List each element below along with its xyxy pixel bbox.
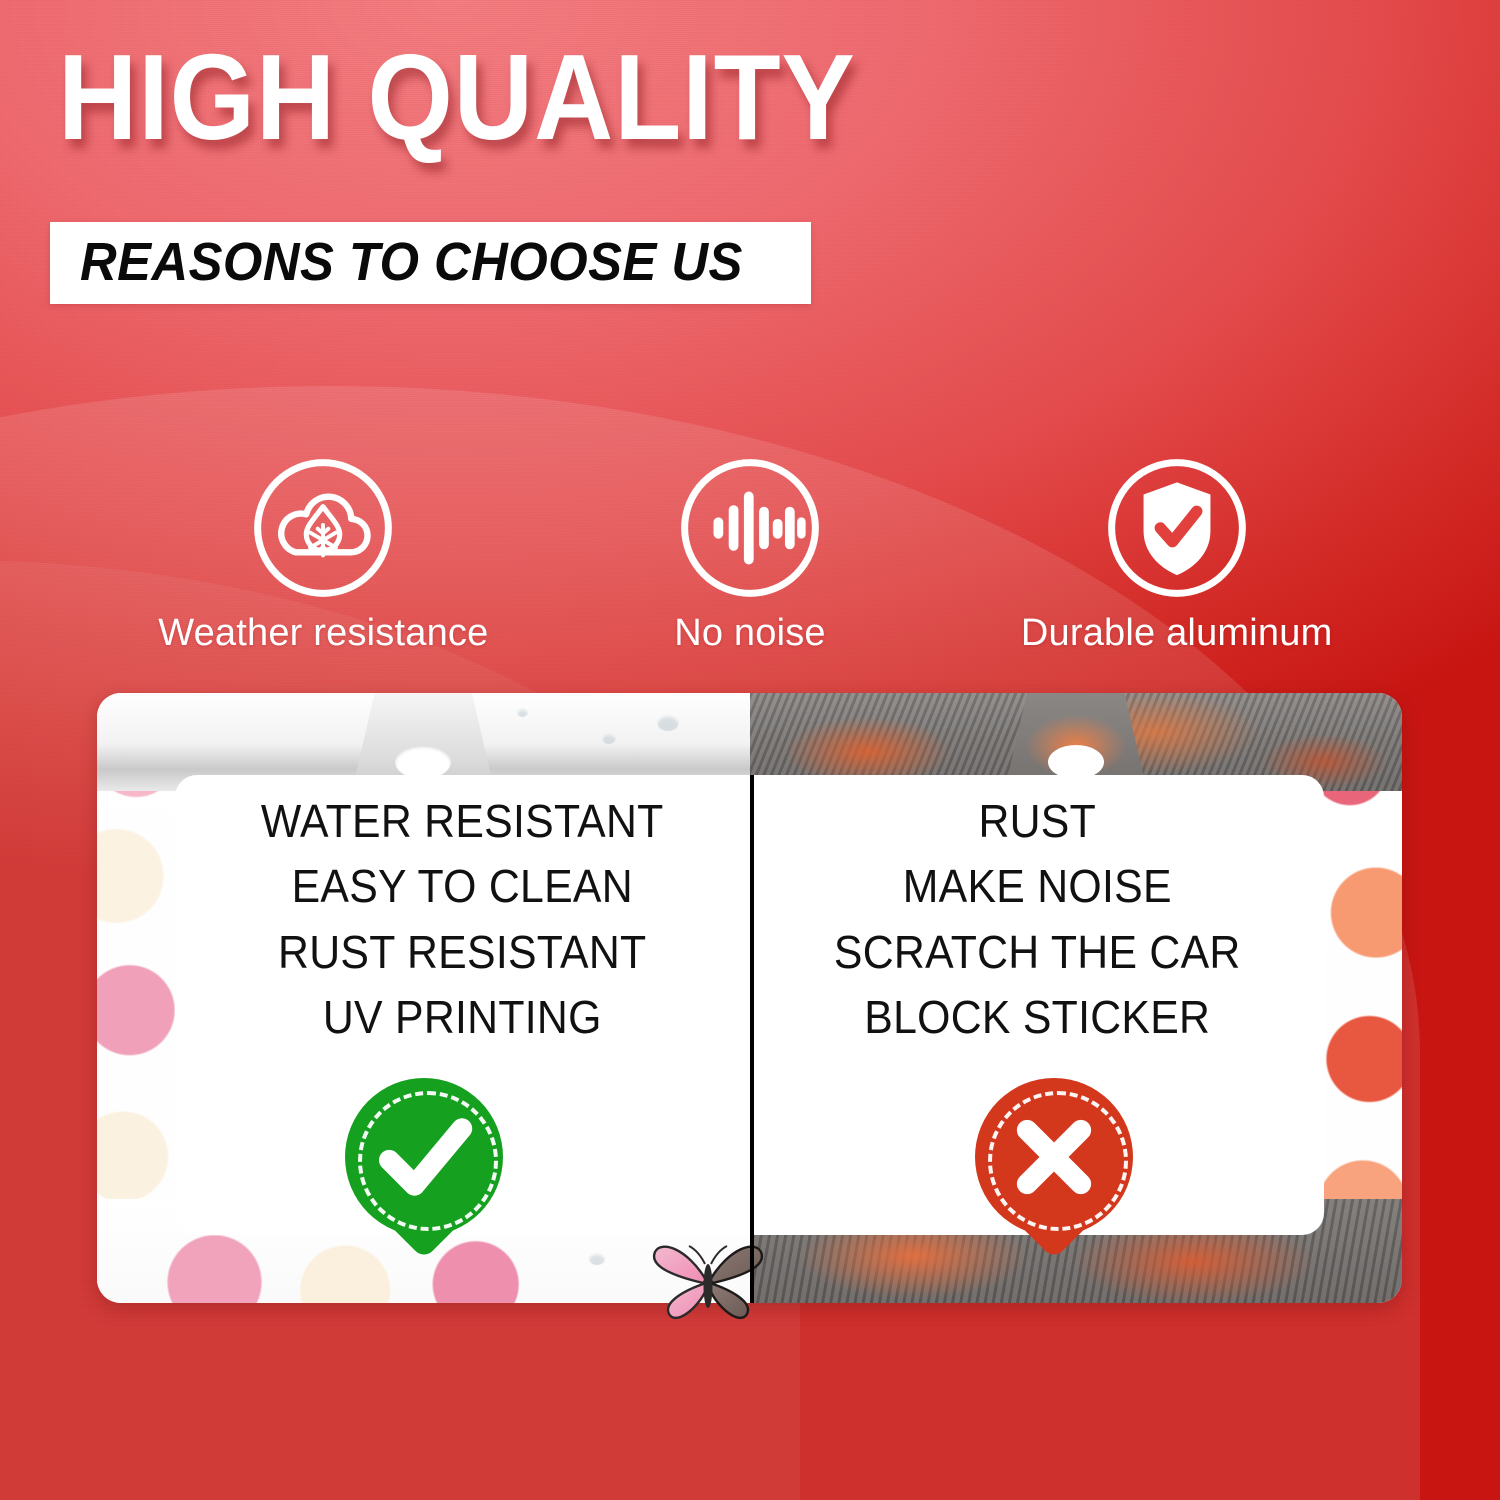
feature-label: Weather resistance [158, 614, 488, 652]
feature-row: Weather resistance No noise [0, 452, 1500, 652]
feature-no-noise: No noise [585, 452, 915, 652]
list-item: MAKE NOISE [770, 854, 1304, 919]
list-item: EASY TO CLEAN [195, 854, 729, 919]
list-item: BLOCK STICKER [770, 985, 1304, 1050]
water-droplet [602, 733, 616, 744]
list-item: SCRATCH THE CAR [770, 920, 1304, 985]
subtitle-banner: REASONS TO CHOOSE US [50, 222, 811, 304]
check-icon [345, 1078, 503, 1236]
weather-cloud-droplet-snowflake-icon [247, 452, 399, 604]
headline: HIGH QUALITY [58, 32, 856, 164]
cross-icon [975, 1078, 1133, 1236]
list-item: UV PRINTING [195, 985, 729, 1050]
comparison-divider-line [750, 775, 754, 1303]
bad-frame-mounting-hole [1048, 745, 1104, 779]
list-item: WATER RESISTANT [195, 789, 729, 854]
shield-check-icon [1101, 452, 1253, 604]
good-frame-mounting-hole [395, 745, 451, 779]
water-droplet [657, 715, 679, 731]
cross-mark-badge [975, 1078, 1133, 1236]
check-mark-badge [345, 1078, 503, 1236]
feature-weather-resistance: Weather resistance [158, 452, 488, 652]
water-droplet [517, 708, 528, 717]
feature-label: Durable aluminum [1021, 614, 1333, 652]
subtitle-text: REASONS TO CHOOSE US [80, 235, 743, 289]
sound-wave-icon [674, 452, 826, 604]
list-item: RUST [770, 789, 1304, 854]
water-droplet [589, 1253, 605, 1265]
feature-durable-aluminum: Durable aluminum [1012, 452, 1342, 652]
good-feature-list: WATER RESISTANT EASY TO CLEAN RUST RESIS… [175, 789, 750, 1050]
infographic-canvas: HIGH QUALITY REASONS TO CHOOSE US [0, 0, 1500, 1500]
list-item: RUST RESISTANT [195, 920, 729, 985]
bad-feature-list: RUST MAKE NOISE SCRATCH THE CAR BLOCK ST… [750, 789, 1325, 1050]
feature-label: No noise [674, 614, 826, 652]
